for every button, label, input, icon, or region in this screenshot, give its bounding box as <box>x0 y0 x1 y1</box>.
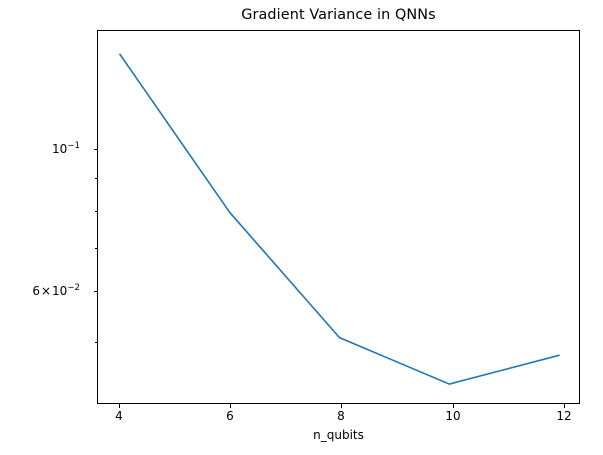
ytick-label-1e-1: 10−1 <box>52 142 80 156</box>
ytick-mark-6e-2 <box>94 291 98 292</box>
matplotlib-figure: Gradient Variance in QNNs 4 6 8 10 12 10… <box>0 0 603 455</box>
ytick-label-1e-1-exp: −1 <box>67 141 80 151</box>
y-axis-label-wrapper: ∂θ variance <box>22 0 44 455</box>
xtick-mark-8 <box>341 404 342 408</box>
xtick-label-1: 6 <box>210 409 250 423</box>
ytick-label-1e-1-base: 10 <box>52 142 67 156</box>
xtick-label-0: 4 <box>99 409 139 423</box>
x-axis-label: n_qubits <box>97 428 580 442</box>
chart-title: Gradient Variance in QNNs <box>97 7 580 23</box>
xtick-mark-6 <box>230 404 231 408</box>
xtick-label-2: 8 <box>321 409 361 423</box>
xtick-label-4: 12 <box>544 409 584 423</box>
data-line-series <box>98 31 581 405</box>
ytick-minor-8e-2 <box>95 211 97 212</box>
ytick-label-6e-2-base: 10 <box>52 284 67 298</box>
ytick-label-6e-2-exp: −2 <box>67 283 80 293</box>
y-axis-label: ∂θ variance <box>0 193 2 262</box>
plot-area <box>97 30 580 404</box>
ytick-minor-7e-2 <box>95 248 97 249</box>
series-line-gradient-variance <box>120 54 559 384</box>
xtick-mark-4 <box>119 404 120 408</box>
ytick-minor-9e-2 <box>95 178 97 179</box>
xtick-mark-10 <box>453 404 454 408</box>
ytick-minor-5e-2 <box>95 342 97 343</box>
ytick-mark-1e-1 <box>94 149 98 150</box>
xtick-mark-12 <box>564 404 565 408</box>
xtick-label-3: 10 <box>433 409 473 423</box>
